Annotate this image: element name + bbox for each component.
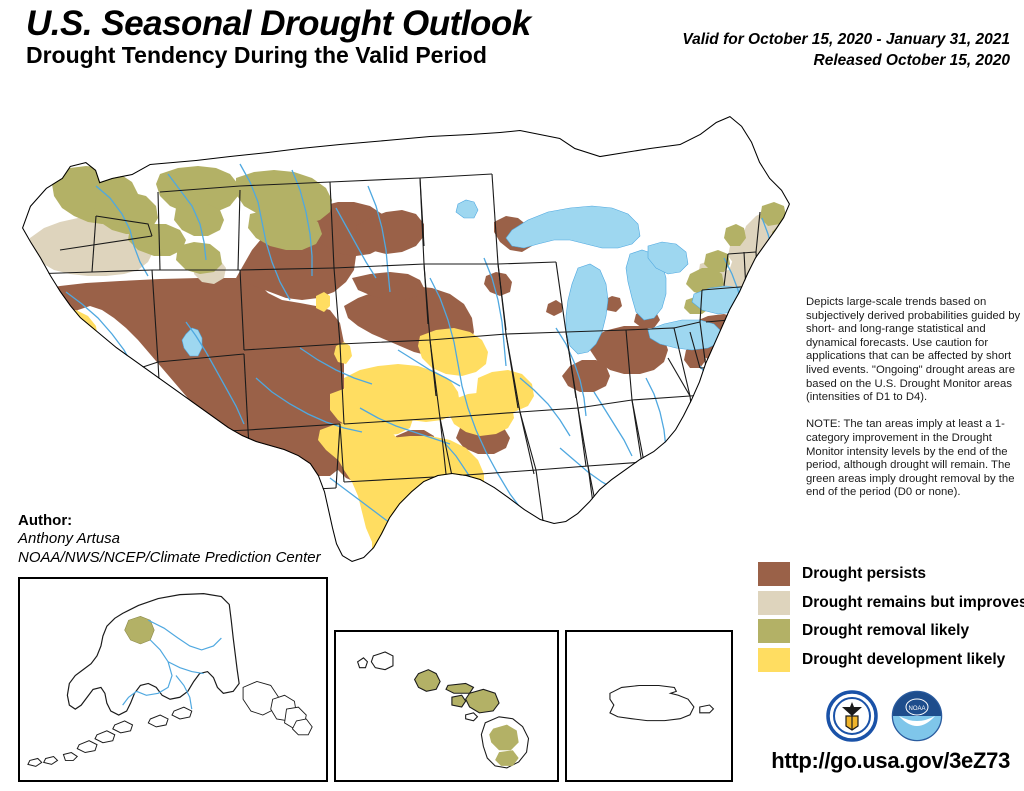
legend-label-drought-persists: Drought persists xyxy=(802,565,926,583)
legend-label-drought-development: Drought development likely xyxy=(802,651,1005,669)
author-org: NOAA/NWS/NCEP/Climate Prediction Center xyxy=(18,549,321,567)
valid-period: Valid for October 15, 2020 - January 31,… xyxy=(682,32,1010,48)
legend-item-drought-development: Drought development likely xyxy=(758,646,1024,675)
note-paragraph-1: Depicts large-scale trends based on subj… xyxy=(806,296,1024,405)
release-date: Released October 15, 2020 xyxy=(814,53,1010,69)
legend-label-drought-removal: Drought removal likely xyxy=(802,622,969,640)
note-spacer xyxy=(806,405,1024,419)
svg-text:NOAA: NOAA xyxy=(908,706,925,712)
legend-label-drought-improves: Drought remains but improves xyxy=(802,594,1024,612)
explanatory-note: Depicts large-scale trends based on subj… xyxy=(806,296,1024,500)
puerto-rico-inset xyxy=(565,630,733,782)
legend-item-drought-persists: Drought persists xyxy=(758,560,1024,589)
conus-map xyxy=(0,78,800,578)
conus-map-svg xyxy=(0,78,800,578)
legend-swatch-drought-removal xyxy=(758,619,790,643)
page-subtitle: Drought Tendency During the Valid Period xyxy=(26,44,487,67)
agency-logos: NOAA xyxy=(826,690,956,742)
hawaii-inset xyxy=(334,630,559,782)
map-legend: Drought persists Drought remains but imp… xyxy=(758,560,1024,674)
legend-swatch-drought-persists xyxy=(758,562,790,586)
legend-item-drought-removal: Drought removal likely xyxy=(758,617,1024,646)
author-label: Author: xyxy=(18,512,321,530)
outlook-url[interactable]: http://go.usa.gov/3eZ73 xyxy=(771,748,1010,774)
legend-item-drought-improves: Drought remains but improves xyxy=(758,589,1024,618)
legend-swatch-drought-development xyxy=(758,648,790,672)
note-paragraph-2: NOTE: The tan areas imply at least a 1-c… xyxy=(806,418,1024,500)
header: U.S. Seasonal Drought Outlook Drought Te… xyxy=(0,0,1024,80)
noaa-logo: NOAA xyxy=(893,692,941,740)
author-block: Author: Anthony Artusa NOAA/NWS/NCEP/Cli… xyxy=(18,512,321,567)
page-title: U.S. Seasonal Drought Outlook xyxy=(26,6,531,41)
national-weather-service-logo xyxy=(828,692,876,740)
alaska-inset xyxy=(18,577,328,782)
hawaii-inset-map xyxy=(336,632,557,780)
legend-swatch-drought-improves xyxy=(758,591,790,615)
puerto-rico-inset-map xyxy=(567,632,731,780)
alaska-inset-map xyxy=(20,579,326,780)
author-name: Anthony Artusa xyxy=(18,530,321,548)
